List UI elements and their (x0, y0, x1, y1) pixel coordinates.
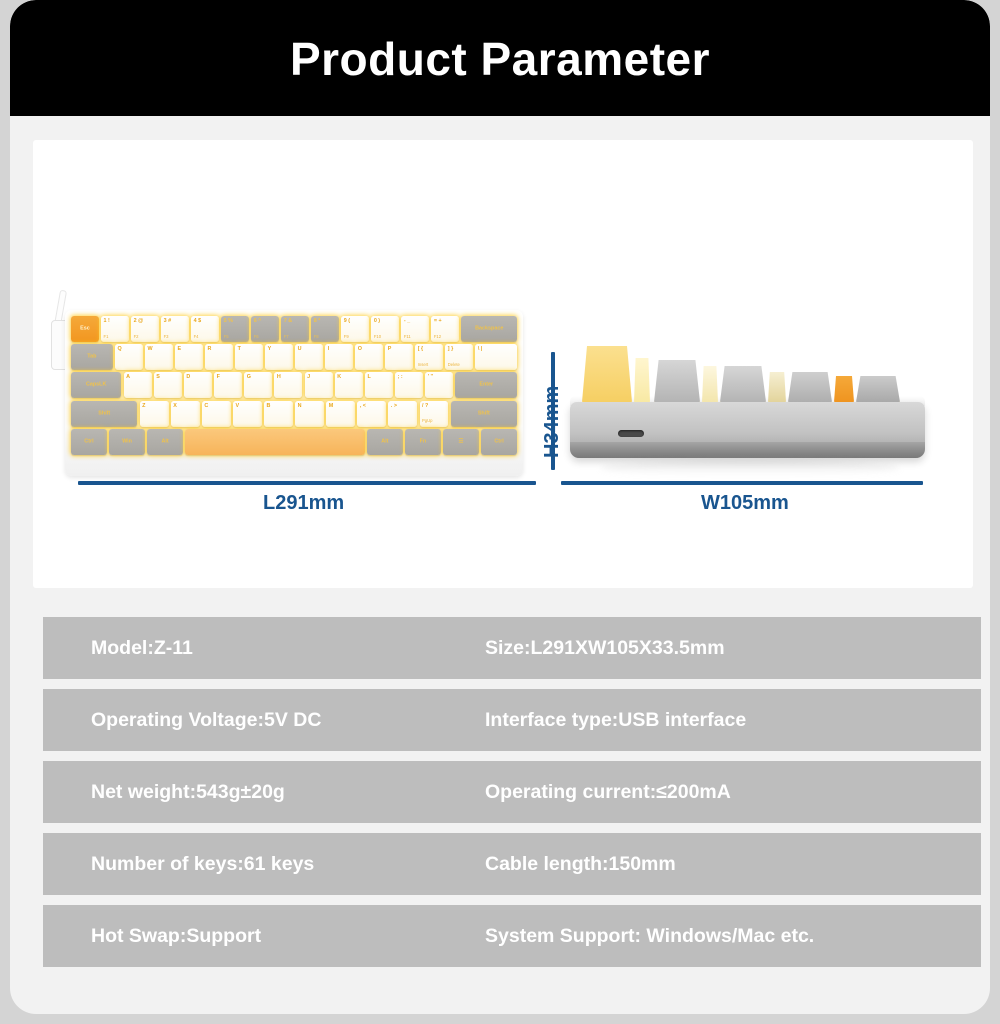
spec-cell-right: Cable length:150mm (485, 853, 676, 876)
spec-cell-right: Interface type:USB interface (485, 709, 746, 732)
keycap: F (214, 372, 242, 398)
height-dimension-label: H34mm (541, 386, 564, 458)
keycap: K (335, 372, 363, 398)
keycap: Enter (455, 372, 517, 398)
keycap: Shift (451, 401, 517, 427)
keycap: H (274, 372, 302, 398)
keycap: Y (265, 344, 293, 370)
keyboard-row: Esc1 !F12 @F23 #F34 $F45 %F56 ^F67 &F78 … (71, 316, 517, 342)
keyboard-side-view (560, 340, 935, 490)
keycap: ☰ (443, 429, 479, 455)
keycap: Esc (71, 316, 99, 342)
keycap: 7 &F7 (281, 316, 309, 342)
keycap: X (171, 401, 200, 427)
keycap: W (145, 344, 173, 370)
keycap: 6 ^F6 (251, 316, 279, 342)
page-title-banner: Product Parameter (10, 0, 990, 116)
spec-row: Operating Voltage:5V DCInterface type:US… (43, 689, 981, 751)
spec-cell-left: Operating Voltage:5V DC (43, 709, 485, 732)
keycap: O (355, 344, 383, 370)
keycap: Win (109, 429, 145, 455)
width-dimension-label: W105mm (701, 492, 789, 515)
keycap: , < (357, 401, 386, 427)
spec-row: Model:Z-11Size:L291XW105X33.5mm (43, 617, 981, 679)
keycap: 4 $F4 (191, 316, 219, 342)
spec-cell-left: Model:Z-11 (43, 637, 485, 660)
keyboard-row: CapsLKASDFGHJKL; :' "Enter (71, 372, 517, 398)
side-view-keycap (702, 366, 718, 402)
keycap: \ | (475, 344, 517, 370)
keycap: V (233, 401, 262, 427)
keycap: Ctrl (481, 429, 517, 455)
product-parameter-page: Product Parameter Esc1 !F12 @F23 #F34 $F… (10, 0, 990, 1014)
length-dimension-label: L291mm (263, 492, 344, 515)
surface-reflection (600, 460, 900, 476)
keycap: 2 @F2 (131, 316, 159, 342)
keycap: E (175, 344, 203, 370)
keycap: L (365, 372, 393, 398)
keycap: C (202, 401, 231, 427)
keycap: J (305, 372, 333, 398)
spec-cell-right: Size:L291XW105X33.5mm (485, 637, 725, 660)
keycap: A (124, 372, 152, 398)
keyboard-top-view: Esc1 !F12 @F23 #F34 $F45 %F56 ^F67 &F78 … (55, 288, 525, 480)
width-dimension-line (561, 481, 923, 485)
keycap: ' " (425, 372, 453, 398)
side-view-keycap (634, 358, 650, 402)
specification-table: Model:Z-11Size:L291XW105X33.5mmOperating… (43, 617, 981, 977)
keycap: Q (115, 344, 143, 370)
keyboard-row: ShiftZXCVBNM, <. >/ ?PgUpShift (71, 401, 517, 427)
keycap: Z (140, 401, 169, 427)
spec-row: Number of keys:61 keysCable length:150mm (43, 833, 981, 895)
keyboard-row: TabQWERTYUIOP[ {Insert] }Delete\ | (71, 344, 517, 370)
side-view-keycap (834, 376, 854, 402)
keycap: = +F12 (431, 316, 459, 342)
keycap (185, 429, 364, 455)
keycap: I (325, 344, 353, 370)
keycap: Fn (405, 429, 441, 455)
spec-cell-left: Number of keys:61 keys (43, 853, 485, 876)
keycap: N (295, 401, 324, 427)
keycap: Ctrl (71, 429, 107, 455)
spec-row: Hot Swap:SupportSystem Support: Windows/… (43, 905, 981, 967)
spec-cell-right: System Support: Windows/Mac etc. (485, 925, 814, 948)
spec-cell-right: Operating current:≤200mA (485, 781, 731, 804)
keycap: - _F11 (401, 316, 429, 342)
keyboard-keys-area: Esc1 !F12 @F23 #F34 $F45 %F56 ^F67 &F78 … (71, 316, 517, 466)
spec-row: Net weight:543g±20gOperating current:≤20… (43, 761, 981, 823)
usb-c-port-icon (618, 430, 644, 437)
keycap: 1 !F1 (101, 316, 129, 342)
side-view-keycap (654, 360, 700, 402)
keycap: 3 #F3 (161, 316, 189, 342)
side-view-keycap (582, 346, 632, 402)
side-view-keycap (856, 376, 900, 402)
keycap: R (205, 344, 233, 370)
keycap: G (244, 372, 272, 398)
keycap: P (385, 344, 413, 370)
keycap: [ {Insert (415, 344, 443, 370)
keyboard-row: CtrlWinAltAltFn☰Ctrl (71, 429, 517, 455)
keycap: ] }Delete (445, 344, 473, 370)
keycap: T (235, 344, 263, 370)
side-view-keycap (768, 372, 786, 402)
keycap: D (184, 372, 212, 398)
keycap: 9 (F9 (341, 316, 369, 342)
keycap: S (154, 372, 182, 398)
keycap: . > (388, 401, 417, 427)
keycap: B (264, 401, 293, 427)
keycap: Tab (71, 344, 113, 370)
side-view-keycap (788, 372, 832, 402)
keyboard-chassis: Esc1 !F12 @F23 #F34 $F45 %F56 ^F67 &F78 … (65, 310, 523, 476)
keycap: Alt (367, 429, 403, 455)
keycap: U (295, 344, 323, 370)
keycap: 5 %F5 (221, 316, 249, 342)
keycap: ; : (395, 372, 423, 398)
keycap: M (326, 401, 355, 427)
length-dimension-line (78, 481, 536, 485)
keycap: Alt (147, 429, 183, 455)
keycap: 8 *F8 (311, 316, 339, 342)
spec-cell-left: Hot Swap:Support (43, 925, 485, 948)
page-title: Product Parameter (290, 36, 710, 82)
keycap: / ?PgUp (420, 401, 449, 427)
keycap: Backspace (461, 316, 517, 342)
side-view-keycap (720, 366, 766, 402)
keycap: CapsLK (71, 372, 121, 398)
keycap: 0 )F10 (371, 316, 399, 342)
keycap: Shift (71, 401, 137, 427)
product-image-card: Esc1 !F12 @F23 #F34 $F45 %F56 ^F67 &F78 … (33, 140, 973, 588)
spec-cell-left: Net weight:543g±20g (43, 781, 485, 804)
